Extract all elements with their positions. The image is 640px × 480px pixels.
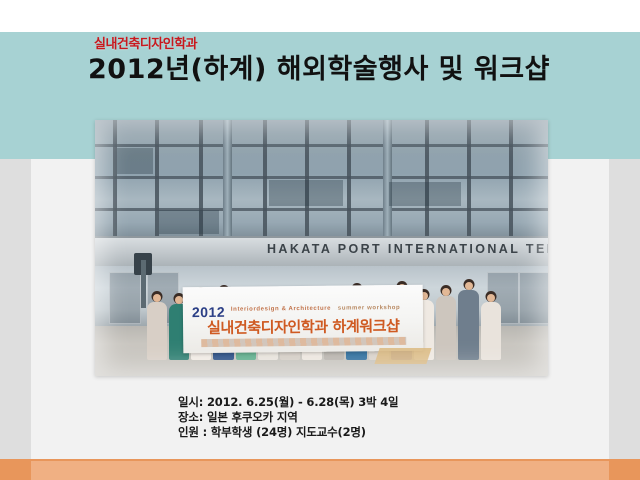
body-band-right-edge xyxy=(609,159,640,459)
group-photo: HAKATA PORT INTERNATIONAL TERMINA xyxy=(95,120,548,376)
banner-english-left: Interiordesign & Architecture xyxy=(231,306,331,313)
detail-location: 장소: 일본 후쿠오카 지역 xyxy=(178,410,508,425)
banner-sponsor-strip xyxy=(201,337,406,347)
photo-building-sign-text: HAKATA PORT INTERNATIONAL TERMINA xyxy=(267,242,548,256)
detail-participants: 인원 : 학부학생 (24명) 지도교수(2명) xyxy=(178,425,508,440)
body-band-left-edge xyxy=(0,159,31,459)
top-white-band xyxy=(0,0,640,32)
photo-workshop-banner: 2012 Interiordesign & Architecture summe… xyxy=(183,285,424,354)
detail-date: 일시: 2012. 6.25(월) - 6.28(목) 3박 4일 xyxy=(178,395,508,410)
footer-orange-band-inner xyxy=(31,461,609,480)
department-label: 실내건축디자인학과 xyxy=(94,38,608,52)
page-title: 2012년(하계) 해외학술행사 및 워크샵 xyxy=(88,54,608,85)
photo-ground-mat xyxy=(374,348,431,364)
event-details: 일시: 2012. 6.25(월) - 6.28(목) 3박 4일 장소: 일본… xyxy=(178,395,508,440)
header-text-block: 실내건축디자인학과 2012년(하계) 해외학술행사 및 워크샵 xyxy=(88,38,608,85)
photo-terminal-glass-facade xyxy=(95,120,548,248)
banner-korean-title: 실내건축디자인학과 하계워크샵 xyxy=(207,315,400,338)
slide-canvas: 실내건축디자인학과 2012년(하계) 해외학술행사 및 워크샵 H xyxy=(0,0,640,480)
banner-english-right: summer workshop xyxy=(338,305,400,312)
